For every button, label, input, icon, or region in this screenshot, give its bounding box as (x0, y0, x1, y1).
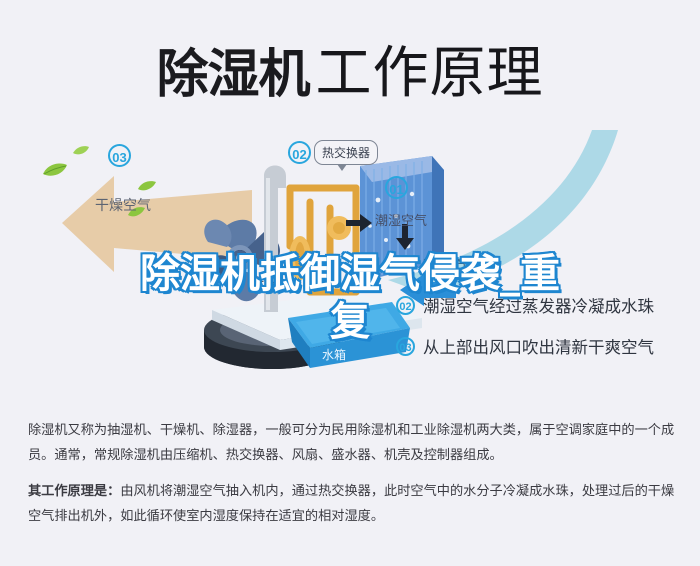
label-humid-air-badge: 01 (385, 176, 408, 199)
badge-01-humid-air: 01 (385, 176, 408, 199)
step-badge: 01 (396, 255, 415, 274)
label-heat-exchanger: 02热交换器 (288, 140, 378, 165)
page-title-part1: 除湿机 (156, 45, 309, 105)
step-badge: 03 (396, 337, 415, 356)
infographic-page: 除湿机工作原理 (0, 0, 700, 566)
label-water-tank: 水箱 (322, 346, 346, 363)
step-text: 潮湿空气 (423, 256, 467, 272)
steps-list: 01 潮湿空气 02 潮湿空气经过蒸发器冷凝成水珠 03 从上部出风口吹出清新干… (396, 252, 696, 375)
heat-exchanger-callout: 热交换器 (314, 140, 378, 165)
step-item: 03 从上部出风口吹出清新干爽空气 (396, 334, 696, 358)
label-dry-air-badge: 03 (108, 144, 131, 167)
body-paragraph-2-strong: 其工作原理是： (28, 484, 120, 499)
step-item: 02 潮湿空气经过蒸发器冷凝成水珠 (396, 293, 696, 317)
label-humid-air-text: 潮湿空气 (375, 210, 427, 229)
body-paragraph-1: 除湿机又称为抽湿机、干燥机、除湿器，一般可分为民用除湿机和工业除湿机两大类，属于… (28, 418, 676, 468)
article-body: 除湿机又称为抽湿机、干燥机、除湿器，一般可分为民用除湿机和工业除湿机两大类，属于… (28, 418, 676, 540)
step-item: 01 潮湿空气 (396, 252, 696, 276)
body-paragraph-2-rest: 由风机将潮湿空气抽入机内，通过热交换器，此时空气中的水分子冷凝成水珠，处理过后的… (28, 484, 674, 524)
leaf-icon (42, 162, 68, 178)
label-compressor: 压缩机 (253, 278, 286, 294)
badge-03-dry-air: 03 (108, 144, 131, 167)
leaf-icon (73, 145, 89, 156)
leaf-icon (138, 180, 156, 192)
step-text: 从上部出风口吹出清新干爽空气 (423, 334, 654, 358)
page-title: 除湿机工作原理 (0, 28, 700, 109)
step-text: 潮湿空气经过蒸发器冷凝成水珠 (423, 293, 654, 317)
badge-02-heat-exchanger: 02 (288, 141, 311, 164)
body-paragraph-2: 其工作原理是：由风机将潮湿空气抽入机内，通过热交换器，此时空气中的水分子冷凝成水… (28, 479, 676, 529)
page-title-part2: 工作原理 (316, 41, 544, 104)
label-dry-air-text: 干燥空气 (95, 195, 151, 215)
step-badge: 02 (396, 296, 415, 315)
